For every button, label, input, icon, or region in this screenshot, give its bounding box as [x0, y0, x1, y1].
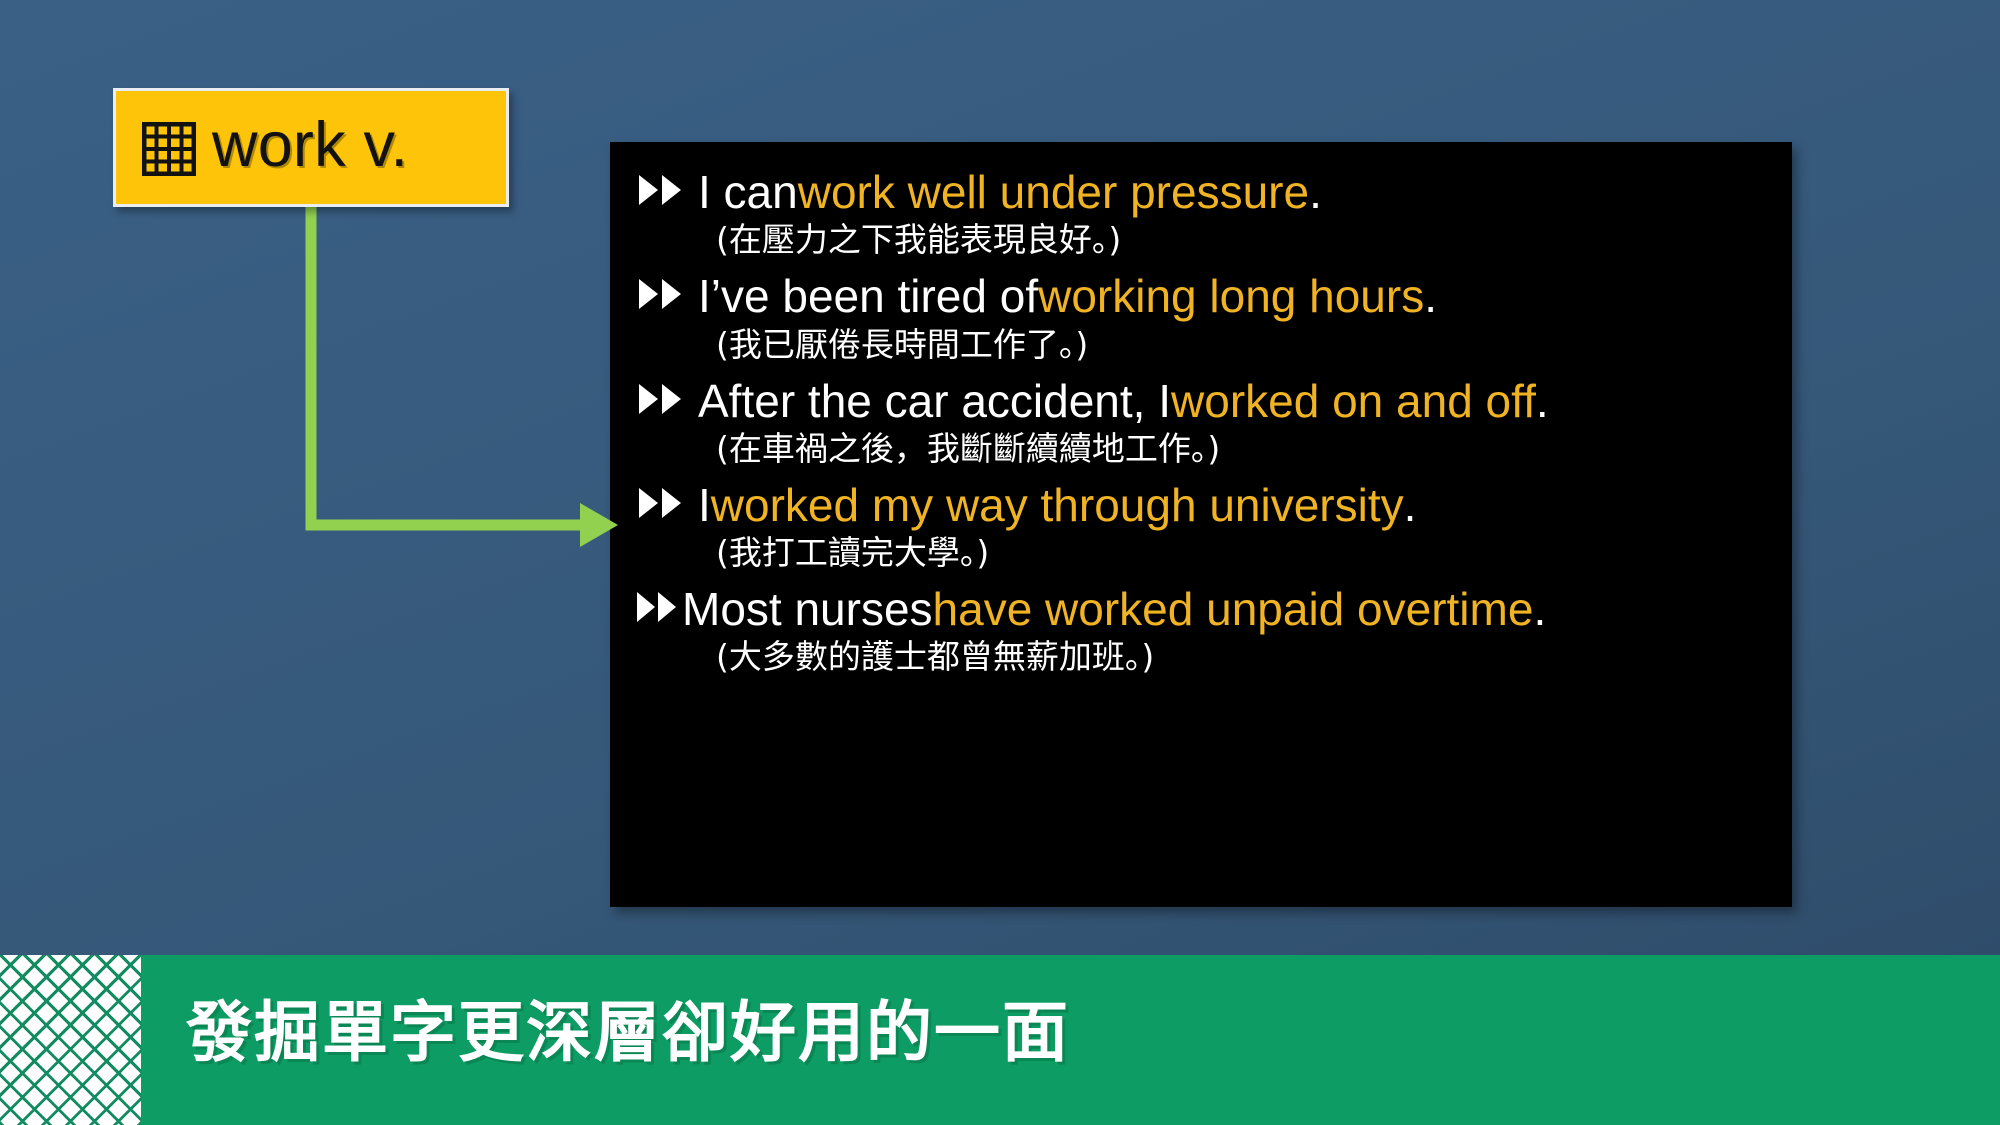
word-title-label: work v. [212, 114, 408, 182]
example-prefix: I can [698, 166, 798, 219]
double-chevron-right-icon [636, 590, 680, 624]
example-english: Most nurses have worked unpaid overtime. [636, 583, 1766, 636]
example-highlight: working long hours [1038, 270, 1424, 323]
diagonal-crosshatch-pattern [0, 955, 141, 1125]
example-prefix: I [698, 479, 711, 532]
example-translation: (在車禍之後，我斷斷續續地工作。) [716, 428, 1766, 471]
example-prefix: I’ve been tired of [698, 270, 1038, 323]
word-title-chip[interactable]: work v. [113, 88, 509, 207]
example-item: I worked my way through university. (我打工… [636, 479, 1766, 575]
example-highlight: worked my way through university [711, 479, 1404, 532]
examples-panel: I can work well under pressure. (在壓力之下我能… [610, 142, 1792, 907]
example-translation: (在壓力之下我能表現良好。) [716, 219, 1766, 262]
example-item: I’ve been tired of working long hours. (… [636, 270, 1766, 366]
example-prefix: After the car accident, I [698, 375, 1171, 428]
example-english: After the car accident, I worked on and … [636, 375, 1766, 428]
example-item: Most nurses have worked unpaid overtime.… [636, 583, 1766, 679]
example-highlight: worked on and off [1171, 375, 1536, 428]
example-english: I can work well under pressure. [636, 166, 1766, 219]
example-translation: (大多數的護士都曾無薪加班。) [716, 636, 1766, 679]
double-chevron-right-icon [636, 382, 692, 416]
example-prefix: Most nurses [682, 583, 933, 636]
example-translation: (我打工讀完大學。) [716, 532, 1766, 575]
example-suffix: . [1533, 583, 1546, 636]
example-item: I can work well under pressure. (在壓力之下我能… [636, 166, 1766, 262]
example-suffix: . [1404, 479, 1417, 532]
example-highlight: have worked unpaid overtime [933, 583, 1534, 636]
example-translation: (我已厭倦長時間工作了。) [716, 324, 1766, 367]
example-suffix: . [1536, 375, 1549, 428]
double-chevron-right-icon [636, 486, 692, 520]
footer-title: 發掘單字更深層卻好用的一面 [186, 1000, 1070, 1066]
example-item: After the car accident, I worked on and … [636, 375, 1766, 471]
example-suffix: . [1424, 270, 1437, 323]
example-english: I’ve been tired of working long hours. [636, 270, 1766, 323]
double-chevron-right-icon [636, 277, 692, 311]
example-highlight: work well under pressure [798, 166, 1309, 219]
example-suffix: . [1309, 166, 1322, 219]
slide-canvas: work v. I can work well under pressure. [0, 0, 2000, 1125]
double-chevron-right-icon [636, 173, 692, 207]
examples-list: I can work well under pressure. (在壓力之下我能… [636, 166, 1766, 679]
example-english: I worked my way through university. [636, 479, 1766, 532]
grid-table-icon [142, 122, 196, 176]
